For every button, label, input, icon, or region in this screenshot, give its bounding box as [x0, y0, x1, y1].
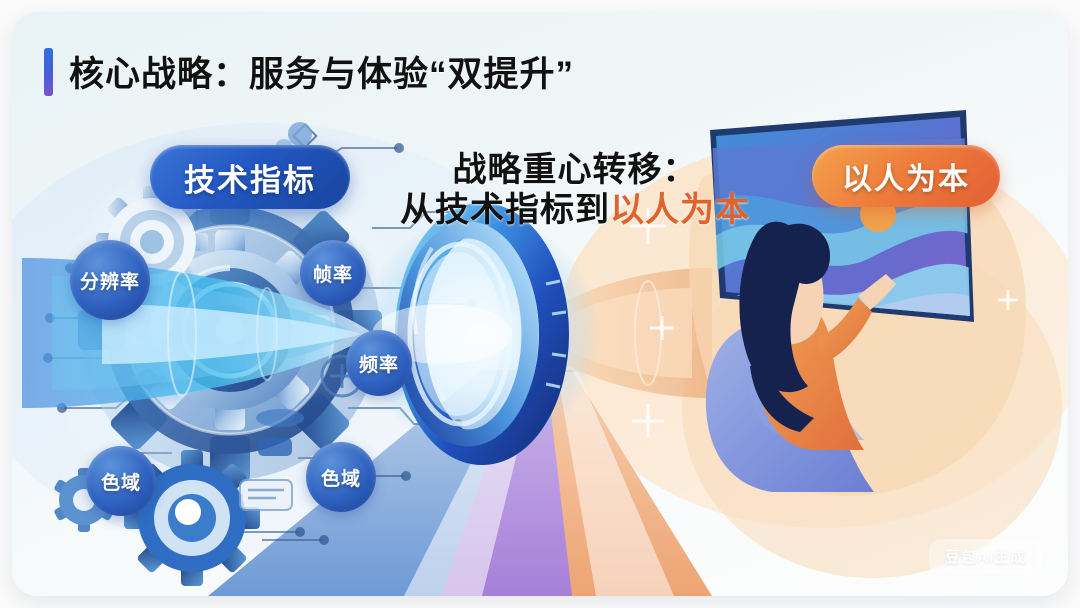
center-headline-line1: 战略重心转移：	[400, 150, 750, 190]
tech-bubble-label: 频率	[359, 350, 399, 377]
center-headline-line2-dark: 从技术指标到	[400, 191, 610, 229]
slide-card: 核心战略：服务与体验“双提升” 技术指标 以人为本 战略重心转移： 从技术指标到…	[12, 12, 1068, 596]
tech-bubble-label: 色域	[321, 464, 361, 491]
center-headline-line2: 从技术指标到以人为本	[400, 190, 750, 230]
slide-canvas: 核心战略：服务与体验“双提升” 技术指标 以人为本 战略重心转移： 从技术指标到…	[0, 0, 1080, 608]
badge-technical-metrics[interactable]: 技术指标	[150, 145, 350, 209]
badge-people-first-label: 以人为本	[842, 154, 970, 198]
badge-technical-metrics-label: 技术指标	[184, 155, 316, 200]
tech-bubble-1[interactable]: 分辨率	[70, 240, 150, 320]
badge-people-first[interactable]: 以人为本	[812, 145, 1000, 207]
center-headline-block: 战略重心转移： 从技术指标到以人为本	[400, 150, 750, 230]
tech-bubble-4[interactable]: 色域	[86, 446, 156, 516]
title-accent-bar	[44, 48, 53, 96]
tech-bubble-label: 分辨率	[80, 267, 140, 294]
center-headline-line2-highlight: 以人为本	[610, 191, 750, 229]
tech-bubble-label: 色域	[101, 468, 141, 495]
ai-watermark: 豆包AI生成	[929, 539, 1042, 574]
tech-bubble-2[interactable]: 帧率	[300, 240, 366, 306]
tech-bubble-3[interactable]: 频率	[346, 330, 412, 396]
tech-bubble-5[interactable]: 色域	[306, 442, 376, 512]
page-title: 核心战略：服务与体验“双提升”	[44, 46, 574, 97]
page-title-text: 核心战略：服务与体验“双提升”	[69, 46, 574, 97]
tech-bubble-label: 帧率	[313, 260, 353, 287]
